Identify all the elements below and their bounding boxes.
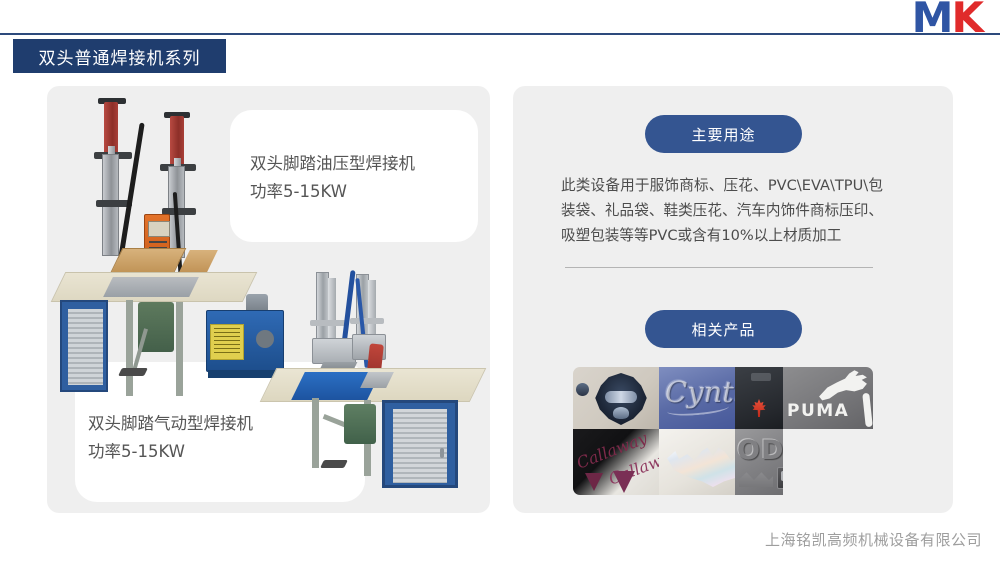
- maple-leaf-icon: [751, 399, 767, 417]
- callaway-chevron-icon-2: [613, 471, 635, 493]
- sample-puma-logo: PUMA: [783, 367, 873, 429]
- callaway-chevron-icon-1: [585, 473, 603, 491]
- logo-letter-m: M: [912, 0, 952, 42]
- sample-maple-leaf: [735, 367, 783, 429]
- sample-callaway-logo: Callaway Callaway: [573, 429, 659, 495]
- machine-label-hydraulic: 双头脚踏油压型焊接机 功率5-15KW: [250, 150, 415, 206]
- logo-letter-k: K: [951, 0, 982, 42]
- right-panel-divider: [565, 267, 873, 268]
- related-products-pill-label: 相关产品: [691, 319, 755, 340]
- sample-tiger-emblem: [573, 367, 659, 429]
- tiger-small-icon: [576, 383, 589, 396]
- tiger-face-icon: [593, 373, 649, 425]
- section-title-block: 双头普通焊接机系列: [13, 39, 226, 73]
- puma-tail-icon: [862, 393, 873, 428]
- header-divider-rule: [0, 33, 1000, 35]
- related-products-pill[interactable]: 相关产品: [645, 310, 802, 348]
- main-usage-pill-label: 主要用途: [691, 124, 755, 145]
- puma-cat-icon: [817, 369, 869, 401]
- slide-root: MK 双头普通焊接机系列: [0, 0, 1000, 562]
- machine-label-pneumatic: 双头脚踏气动型焊接机 功率5-15KW: [88, 410, 253, 466]
- embossed-wordmark: ODDI: [737, 435, 783, 466]
- related-products-gallery: Cynthia PUMA Callaway Callaway ODDI: [573, 367, 873, 495]
- main-usage-pill[interactable]: 主要用途: [645, 115, 802, 153]
- garment-tag-icon: [751, 373, 771, 381]
- puma-wordmark: PUMA: [787, 401, 849, 421]
- sample-batman-logo: [659, 429, 735, 495]
- pneumatic-welding-machine-image: [264, 272, 496, 500]
- sample-script-logo: Cynthia: [659, 367, 735, 429]
- usage-description-text: 此类设备用于服饰商标、压花、PVC\EVA\TPU\包装袋、礼品袋、鞋类压花、汽…: [561, 173, 883, 248]
- section-title-text: 双头普通焊接机系列: [39, 44, 201, 69]
- batman-icon: [667, 447, 735, 487]
- mk-logo: MK: [886, 0, 982, 38]
- sample-embossed-letters: ODDI: [735, 429, 783, 495]
- embossed-badge-icon-1: [777, 467, 783, 489]
- company-footer: 上海铭凯高频机械设备有限公司: [765, 529, 982, 550]
- embossed-wave-icon: [739, 469, 773, 487]
